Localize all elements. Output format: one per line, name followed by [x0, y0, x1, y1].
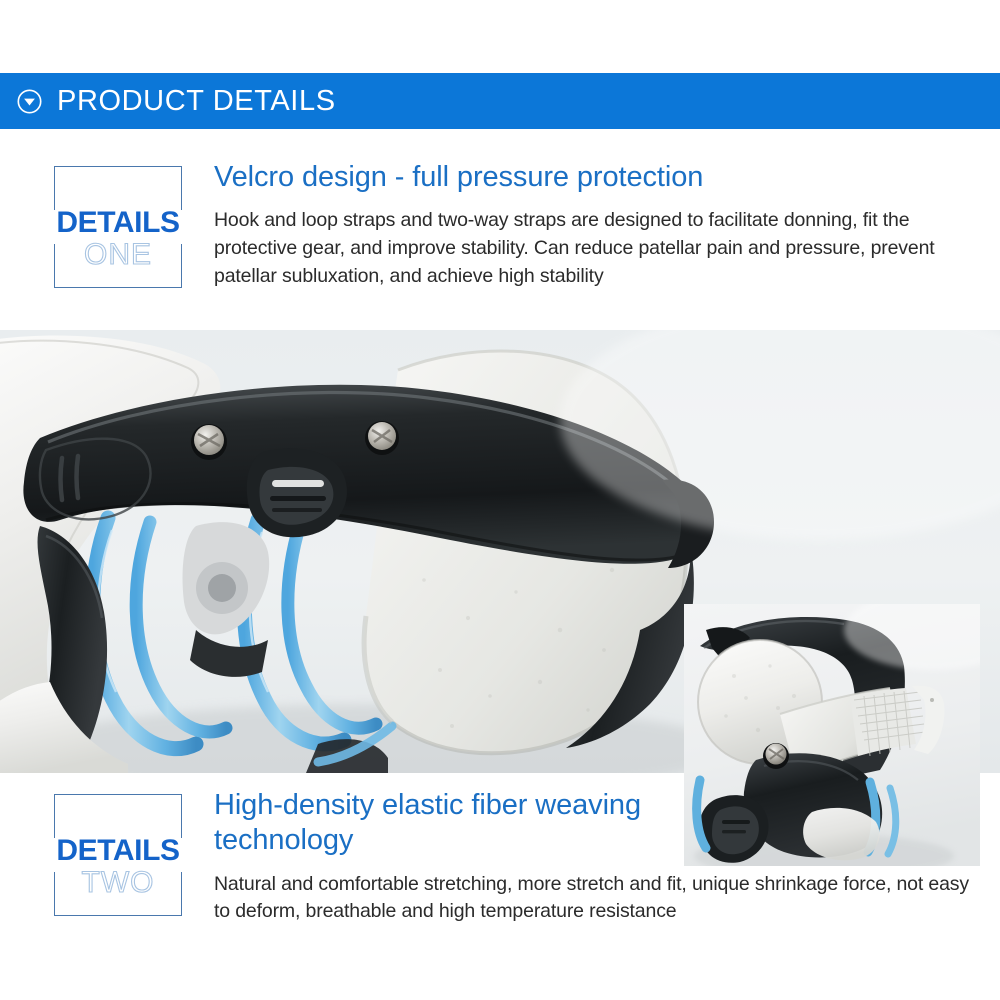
chevron-down-circle-icon: [16, 88, 43, 115]
detail-body: Natural and comfortable stretching, more…: [214, 871, 974, 926]
detail-section-two: DETAILS TWO High-density elastic fiber w…: [0, 788, 1000, 926]
badge-details-one: DETAILS ONE: [54, 166, 182, 288]
detail-body: Hook and loop straps and two-way straps …: [214, 207, 974, 290]
detail-section-one: DETAILS ONE Velcro design - full pressur…: [0, 160, 1000, 290]
badge-details-two: DETAILS TWO: [54, 794, 182, 916]
detail-heading: Velcro design - full pressure protection: [214, 160, 974, 195]
badge-word-sub: ONE: [54, 240, 182, 270]
detail-text-block-one: Velcro design - full pressure protection…: [214, 160, 974, 290]
badge-word-main: DETAILS: [46, 208, 190, 238]
product-details-page: PRODUCT DETAILS DETAILS ONE Velcro desig…: [0, 0, 1000, 1000]
badge-word-sub: TWO: [54, 868, 182, 898]
detail-text-block-two: High-density elastic fiber weaving techn…: [214, 788, 974, 926]
badge-word-main: DETAILS: [46, 836, 190, 866]
product-details-header: PRODUCT DETAILS: [0, 73, 1000, 129]
page-title: PRODUCT DETAILS: [57, 87, 336, 116]
detail-heading: High-density elastic fiber weaving techn…: [214, 788, 644, 859]
